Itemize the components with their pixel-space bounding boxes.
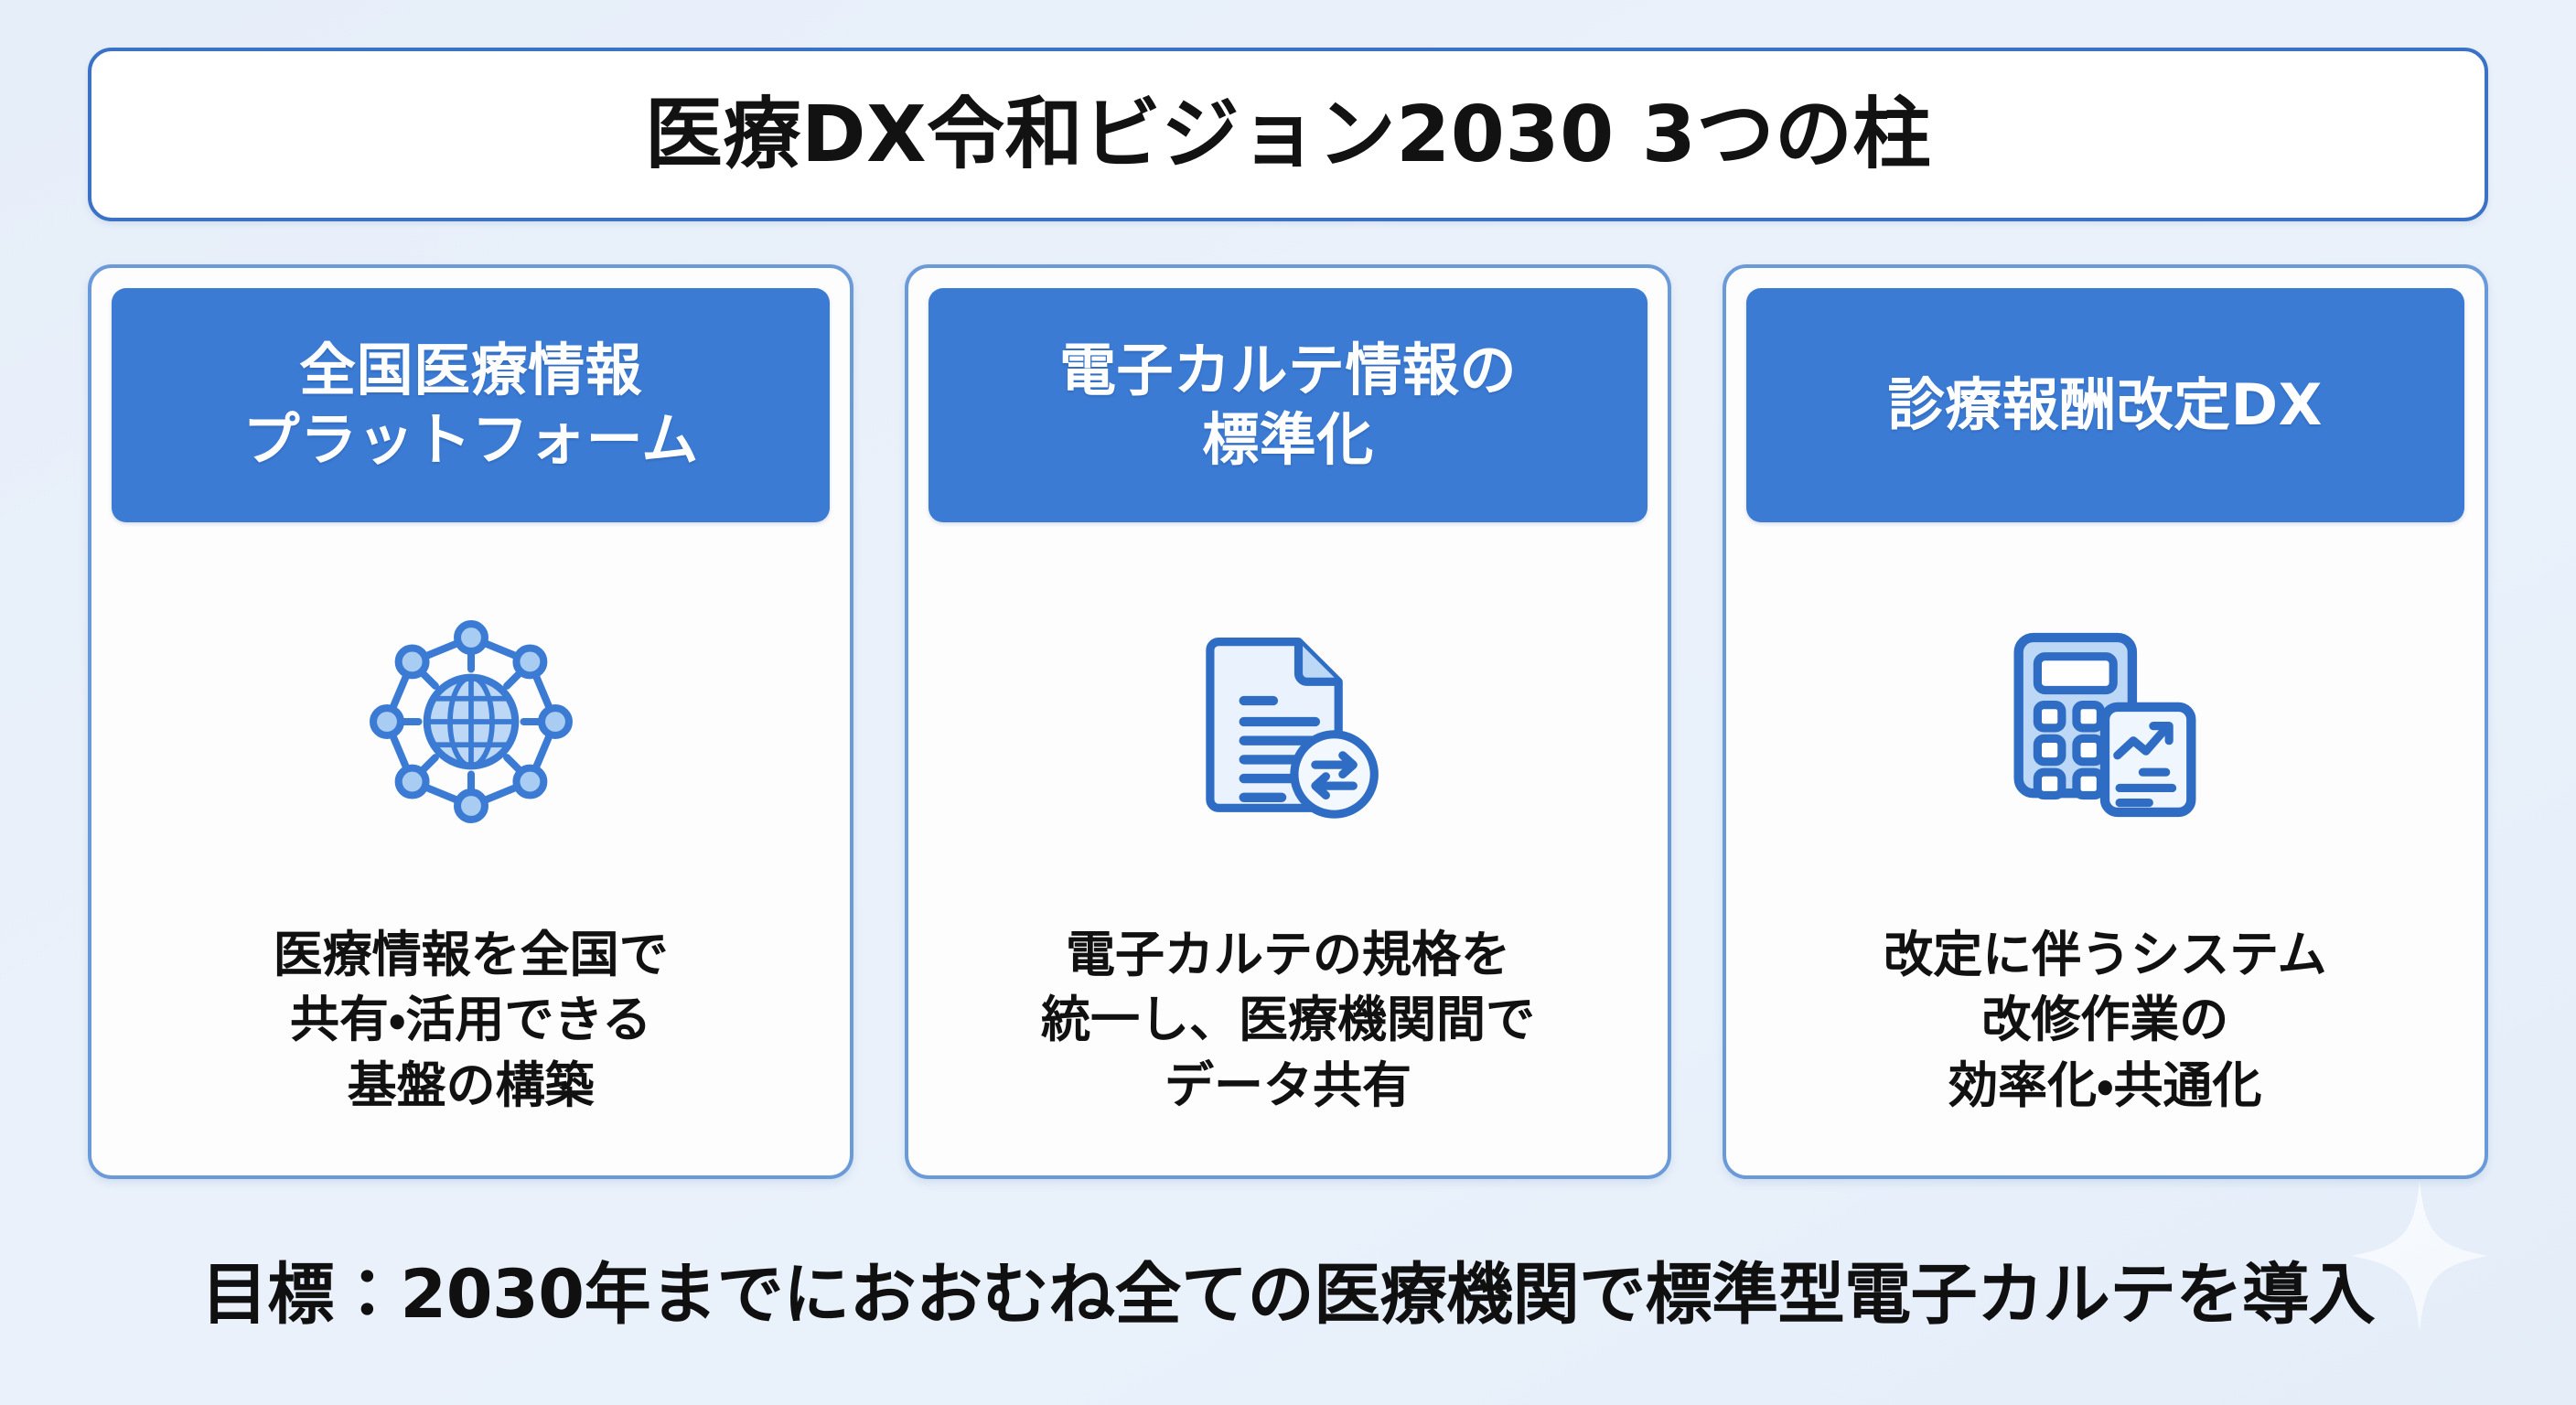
goal-footer: 目標：2030年までにおおむね全ての医療機関で標準型電子カルテを導入 bbox=[88, 1185, 2488, 1405]
pillar-card-3[interactable]: 診療報酬改定DX bbox=[1723, 264, 2488, 1179]
pillar-card-2-body: 電子カルテの規格を 統一し、医療機関間で データ共有 bbox=[1041, 922, 1535, 1152]
pillar-card-3-header: 診療報酬改定DX bbox=[1746, 288, 2464, 522]
page-title: 医療DX令和ビジョン2030 3つの柱 bbox=[645, 96, 1931, 174]
pillar-card-1-header-label: 全国医療情報 プラットフォーム bbox=[243, 336, 699, 474]
goal-footer-text: 目標：2030年までにおおむね全ての医療機関で標準型電子カルテを導入 bbox=[201, 1261, 2375, 1328]
pillar-card-2[interactable]: 電子カルテ情報の 標準化 bbox=[905, 264, 1670, 1179]
pillar-card-3-header-label: 診療報酬改定DX bbox=[1888, 370, 2323, 440]
globe-network-icon bbox=[112, 522, 830, 922]
infographic-root: 医療DX令和ビジョン2030 3つの柱 全国医療情報 プラットフォーム bbox=[0, 0, 2576, 1405]
page-title-bar: 医療DX令和ビジョン2030 3つの柱 bbox=[88, 48, 2488, 221]
calculator-report-icon bbox=[1746, 522, 2464, 922]
pillar-card-2-header: 電子カルテ情報の 標準化 bbox=[928, 288, 1647, 522]
pillar-cards-row: 全国医療情報 プラットフォーム bbox=[88, 264, 2488, 1179]
pillar-card-1-body: 医療情報を全国で 共有・活用できる 基盤の構築 bbox=[274, 922, 669, 1152]
pillar-card-1[interactable]: 全国医療情報 プラットフォーム bbox=[88, 264, 853, 1179]
pillar-card-3-body: 改定に伴うシステム 改修作業の 効率化・共通化 bbox=[1884, 922, 2326, 1152]
pillar-card-1-header: 全国医療情報 プラットフォーム bbox=[112, 288, 830, 522]
document-exchange-icon bbox=[928, 522, 1647, 922]
pillar-card-2-header-label: 電子カルテ情報の 標準化 bbox=[1059, 336, 1517, 474]
